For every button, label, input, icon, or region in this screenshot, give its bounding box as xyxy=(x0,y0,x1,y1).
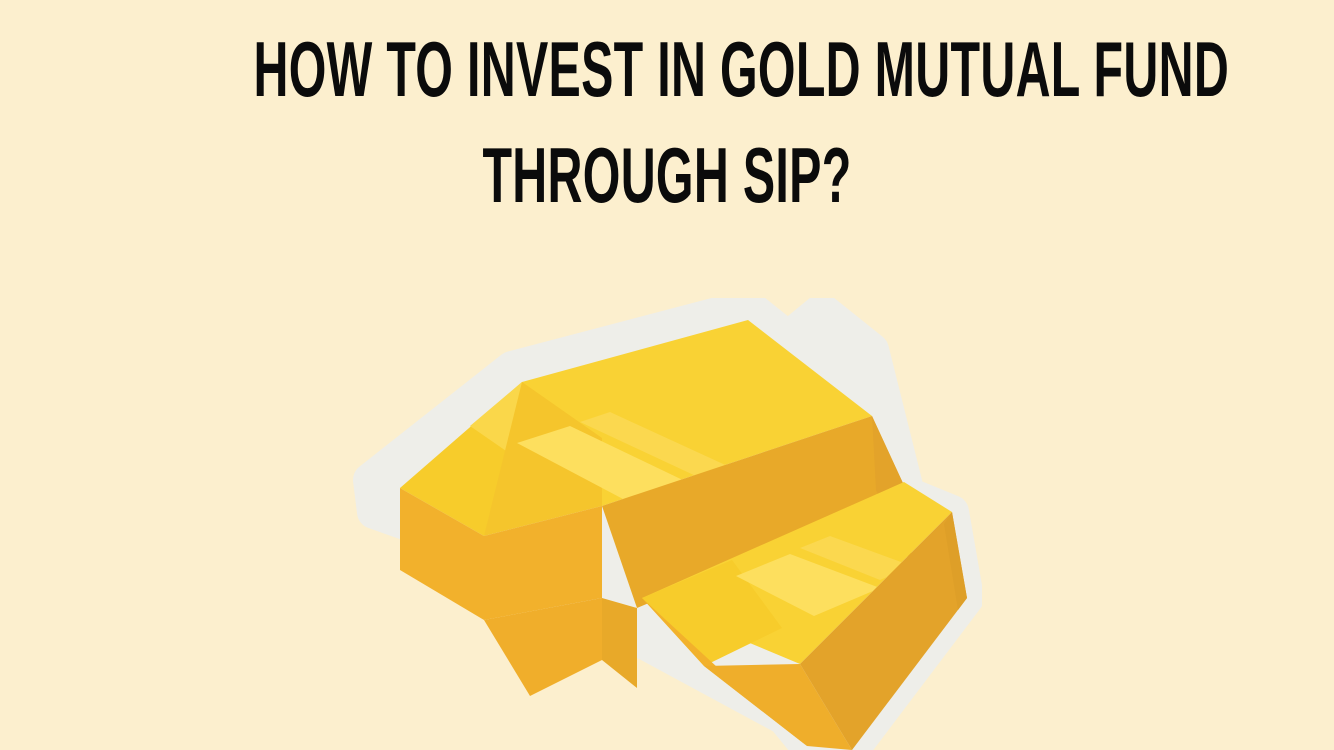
gold-bars-icon xyxy=(352,298,982,750)
title-line-1: HOW TO INVEST IN GOLD MUTUAL FUND xyxy=(253,30,1080,108)
page-title: HOW TO INVEST IN GOLD MUTUAL FUND THROUG… xyxy=(0,0,1334,214)
upper-bar-notch-face xyxy=(602,598,637,688)
title-line-2: THROUGH SIP? xyxy=(253,136,1080,214)
poster-canvas: HOW TO INVEST IN GOLD MUTUAL FUND THROUG… xyxy=(0,0,1334,750)
gold-bars-illustration xyxy=(352,298,982,750)
